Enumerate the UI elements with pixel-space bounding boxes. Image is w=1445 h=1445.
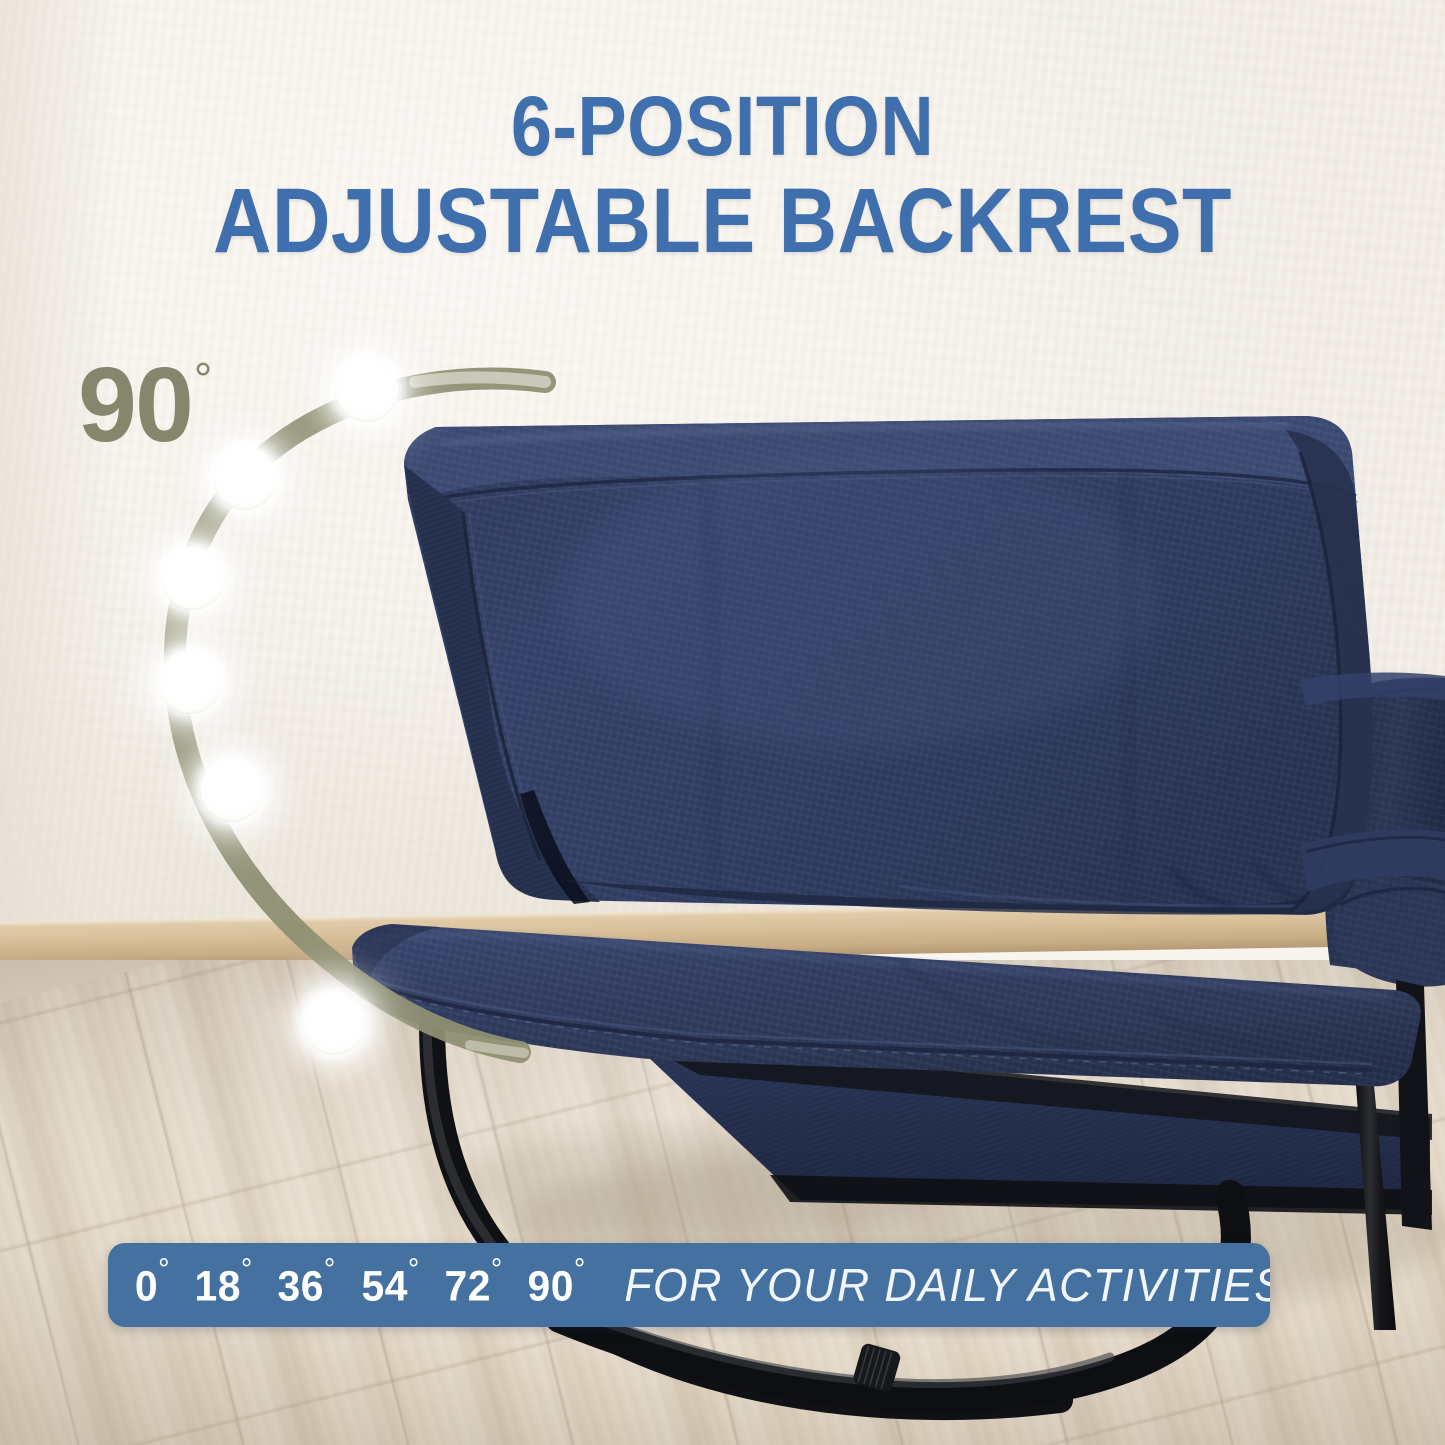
backrest-cushion (404, 416, 1373, 915)
angle-chip-54-value: 54 (361, 1262, 407, 1310)
degree-symbol-icon: ° (491, 1253, 503, 1286)
position-dot-0[interactable] (302, 991, 366, 1055)
banner-tagline: FOR YOUR DAILY ACTIVITIES (624, 1258, 1270, 1312)
angle-chip-90-value: 90 (528, 1262, 574, 1310)
angle-chip-54: 54° (361, 1259, 419, 1311)
angle-chip-0-value: 0 (135, 1262, 158, 1310)
angle-chip-18-value: 18 (194, 1262, 240, 1310)
angle-chip-36: 36° (278, 1259, 336, 1311)
angle-chip-18: 18° (194, 1259, 252, 1311)
angle-chip-90: 90° (528, 1259, 586, 1311)
angle-chip-0: 0° (135, 1259, 170, 1311)
headline-line-2: ADJUSTABLE BACKREST (87, 172, 1359, 270)
angle-chip-72: 72° (444, 1259, 502, 1311)
degree-symbol-icon: ° (574, 1253, 586, 1286)
position-dot-90[interactable] (335, 358, 399, 422)
position-dot-72[interactable] (213, 446, 277, 510)
degree-symbol-icon: ° (158, 1253, 170, 1286)
headline-line-1: 6-POSITION (87, 82, 1359, 172)
page-title: 6-POSITION ADJUSTABLE BACKREST (0, 82, 1445, 270)
degree-symbol-icon: ° (194, 353, 212, 405)
angle-chip-72-value: 72 (444, 1262, 490, 1310)
angles-banner: 0° 18° 36° 54° 72° 90° FOR YOUR DAILY AC… (108, 1243, 1270, 1327)
degree-symbol-icon: ° (324, 1253, 336, 1286)
position-dot-54[interactable] (161, 546, 225, 610)
position-dot-18[interactable] (200, 758, 264, 822)
degree-symbol-icon: ° (408, 1253, 420, 1286)
angle-label-value: 90 (78, 346, 192, 464)
angle-list: 0° 18° 36° 54° 72° 90° (134, 1259, 610, 1311)
product-infographic: 90° 6-POSITION ADJUSTABLE BACKREST 0° 18… (0, 0, 1445, 1445)
angle-chip-36-value: 36 (278, 1262, 324, 1310)
position-dot-36[interactable] (158, 650, 222, 714)
angle-label-90: 90° (78, 352, 210, 458)
degree-symbol-icon: ° (241, 1253, 253, 1286)
seat-cushion (352, 924, 1421, 1086)
